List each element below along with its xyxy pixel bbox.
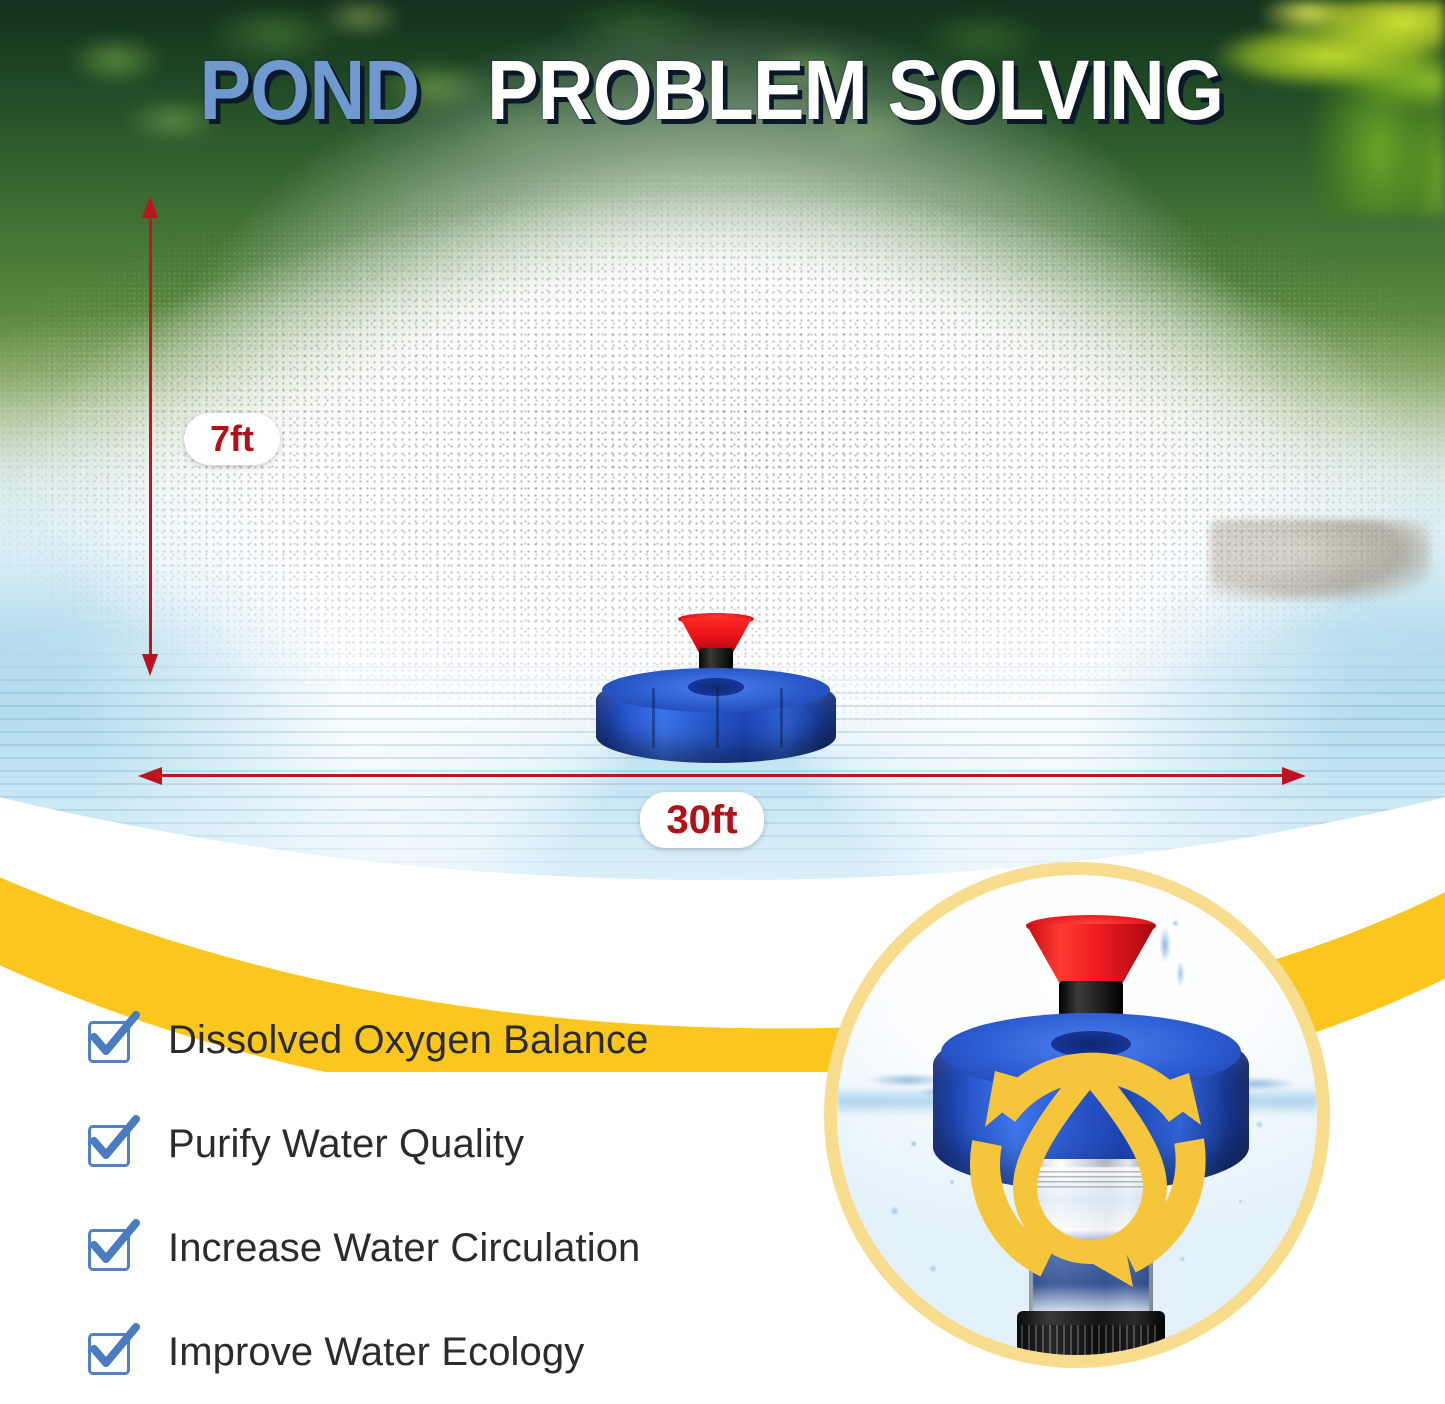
list-item[interactable]: Dissolved Oxygen Balance — [88, 988, 848, 1092]
width-dimension-arrow — [138, 767, 1306, 785]
hero-section: PONDPROBLEM SOLVING 7ft 30ft — [0, 0, 1445, 880]
circulation-arrows-icon — [837, 875, 1330, 1368]
list-item[interactable]: Improve Water Ecology — [88, 1300, 848, 1404]
feature-label: Purify Water Quality — [168, 1122, 524, 1167]
checkbox-checked-icon — [88, 1121, 134, 1167]
list-item[interactable]: Increase Water Circulation — [88, 1196, 848, 1300]
product-detail-inset — [824, 862, 1330, 1368]
arrow-line — [149, 210, 152, 662]
red-nozzle-icon — [680, 618, 752, 652]
feature-label: Improve Water Ecology — [168, 1330, 584, 1375]
arrow-head-down-icon — [142, 654, 158, 676]
height-dimension-arrow — [142, 196, 158, 676]
arrow-line — [154, 774, 1290, 777]
checkbox-checked-icon — [88, 1017, 134, 1063]
float-seam — [716, 688, 719, 748]
width-dimension-label: 30ft — [640, 792, 764, 848]
page-title-part-problem-solving: PROBLEM SOLVING — [487, 48, 1223, 132]
feature-label: Increase Water Circulation — [168, 1226, 640, 1271]
page-title-part-pond: POND — [200, 48, 420, 132]
float-seam — [652, 688, 655, 748]
checkbox-checked-icon — [88, 1225, 134, 1271]
arrow-head-right-icon — [1282, 767, 1306, 785]
shore-rock — [1210, 520, 1430, 600]
feature-label: Dissolved Oxygen Balance — [168, 1018, 648, 1063]
checkbox-checked-icon — [88, 1329, 134, 1375]
height-dimension-label: 7ft — [184, 413, 280, 465]
float-seam — [780, 688, 783, 748]
water-drop-icon — [1025, 1071, 1155, 1252]
pond-aerator-product — [596, 618, 836, 763]
page-title: PONDPROBLEM SOLVING — [0, 48, 1445, 132]
features-checklist: Dissolved Oxygen Balance Purify Water Qu… — [88, 988, 848, 1404]
list-item[interactable]: Purify Water Quality — [88, 1092, 848, 1196]
